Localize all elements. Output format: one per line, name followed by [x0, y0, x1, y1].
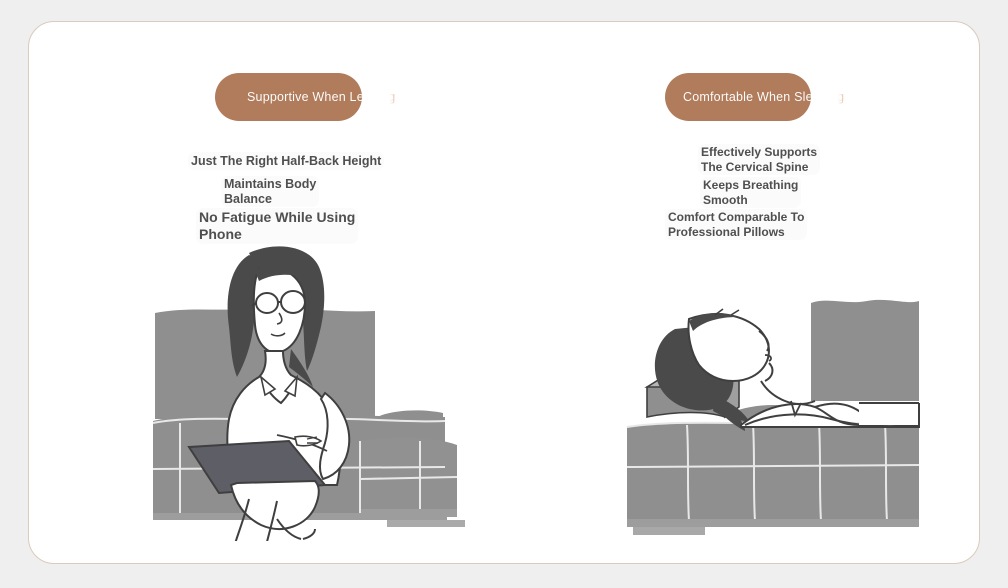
- badge-comfortable-when-sleeping[interactable]: Comfortable When Sleeping: [665, 73, 935, 121]
- screenshot-stage: Supportive When Leaning Just The Right H…: [0, 0, 1008, 588]
- feature-text-maintains-body-balance: Maintains Body Balance: [221, 176, 319, 207]
- woman-sitting-on-sofa-with-laptop-illustration: [125, 241, 465, 541]
- feature-text-keeps-breathing-smooth: Keeps Breathing Smooth: [700, 177, 801, 208]
- badge-supportive-when-leaning[interactable]: Supportive When Leaning: [215, 73, 475, 121]
- product-feature-card: Supportive When Leaning Just The Right H…: [28, 21, 980, 564]
- panel-comfortable-when-sleeping: Comfortable When Sleeping Effectively Su…: [505, 22, 981, 565]
- panel-supportive-when-leaning: Supportive When Leaning Just The Right H…: [29, 22, 505, 565]
- feature-text-comfort-comparable-pillows: Comfort Comparable To Professional Pillo…: [665, 209, 807, 240]
- person-lying-on-sofa-with-pillow-illustration: [619, 291, 929, 541]
- feature-text-supports-cervical-spine: Effectively Supports The Cervical Spine: [698, 144, 820, 175]
- feature-text-half-back-height: Just The Right Half-Back Height: [188, 152, 384, 170]
- badge-label: Supportive When Leaning: [247, 73, 477, 121]
- feature-text-no-fatigue-using-phone: No Fatigue While Using Phone: [196, 208, 358, 244]
- badge-label: Comfortable When Sleeping: [683, 73, 933, 121]
